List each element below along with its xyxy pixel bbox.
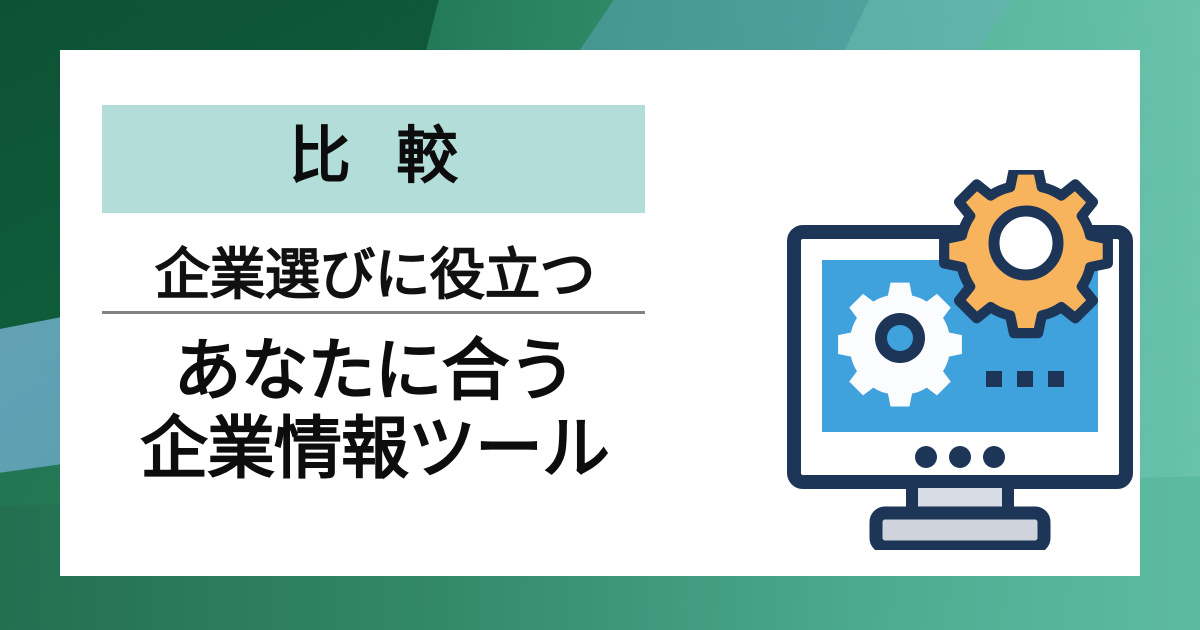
category-badge-label: 比 較 (275, 126, 472, 188)
bezel-dot-3 (983, 446, 1005, 468)
gear-orange-icon (944, 170, 1108, 333)
headline-divider (102, 311, 645, 314)
category-badge: 比 較 (102, 105, 645, 213)
poster-canvas: 比 較 企業選びに役立つ あなたに合う 企業情報ツール (0, 0, 1200, 630)
bezel-dot-1 (915, 446, 937, 468)
monitor-base (876, 513, 1044, 547)
bezel-dot-2 (949, 446, 971, 468)
text-column: 比 較 企業選びに役立つ あなたに合う 企業情報ツール (102, 105, 647, 485)
content-card: 比 較 企業選びに役立つ あなたに合う 企業情報ツール (60, 50, 1140, 576)
headline-line-1: 企業選びに役立つ (102, 245, 647, 304)
screen-square-1 (986, 371, 1002, 387)
headline-line-2: あなたに合う (102, 336, 647, 407)
gear-white-icon (838, 283, 962, 407)
illustration-monitor-with-gears (760, 170, 1160, 550)
screen-square-2 (1017, 371, 1033, 387)
headline-line-3: 企業情報ツール (102, 414, 647, 485)
screen-square-3 (1048, 371, 1064, 387)
